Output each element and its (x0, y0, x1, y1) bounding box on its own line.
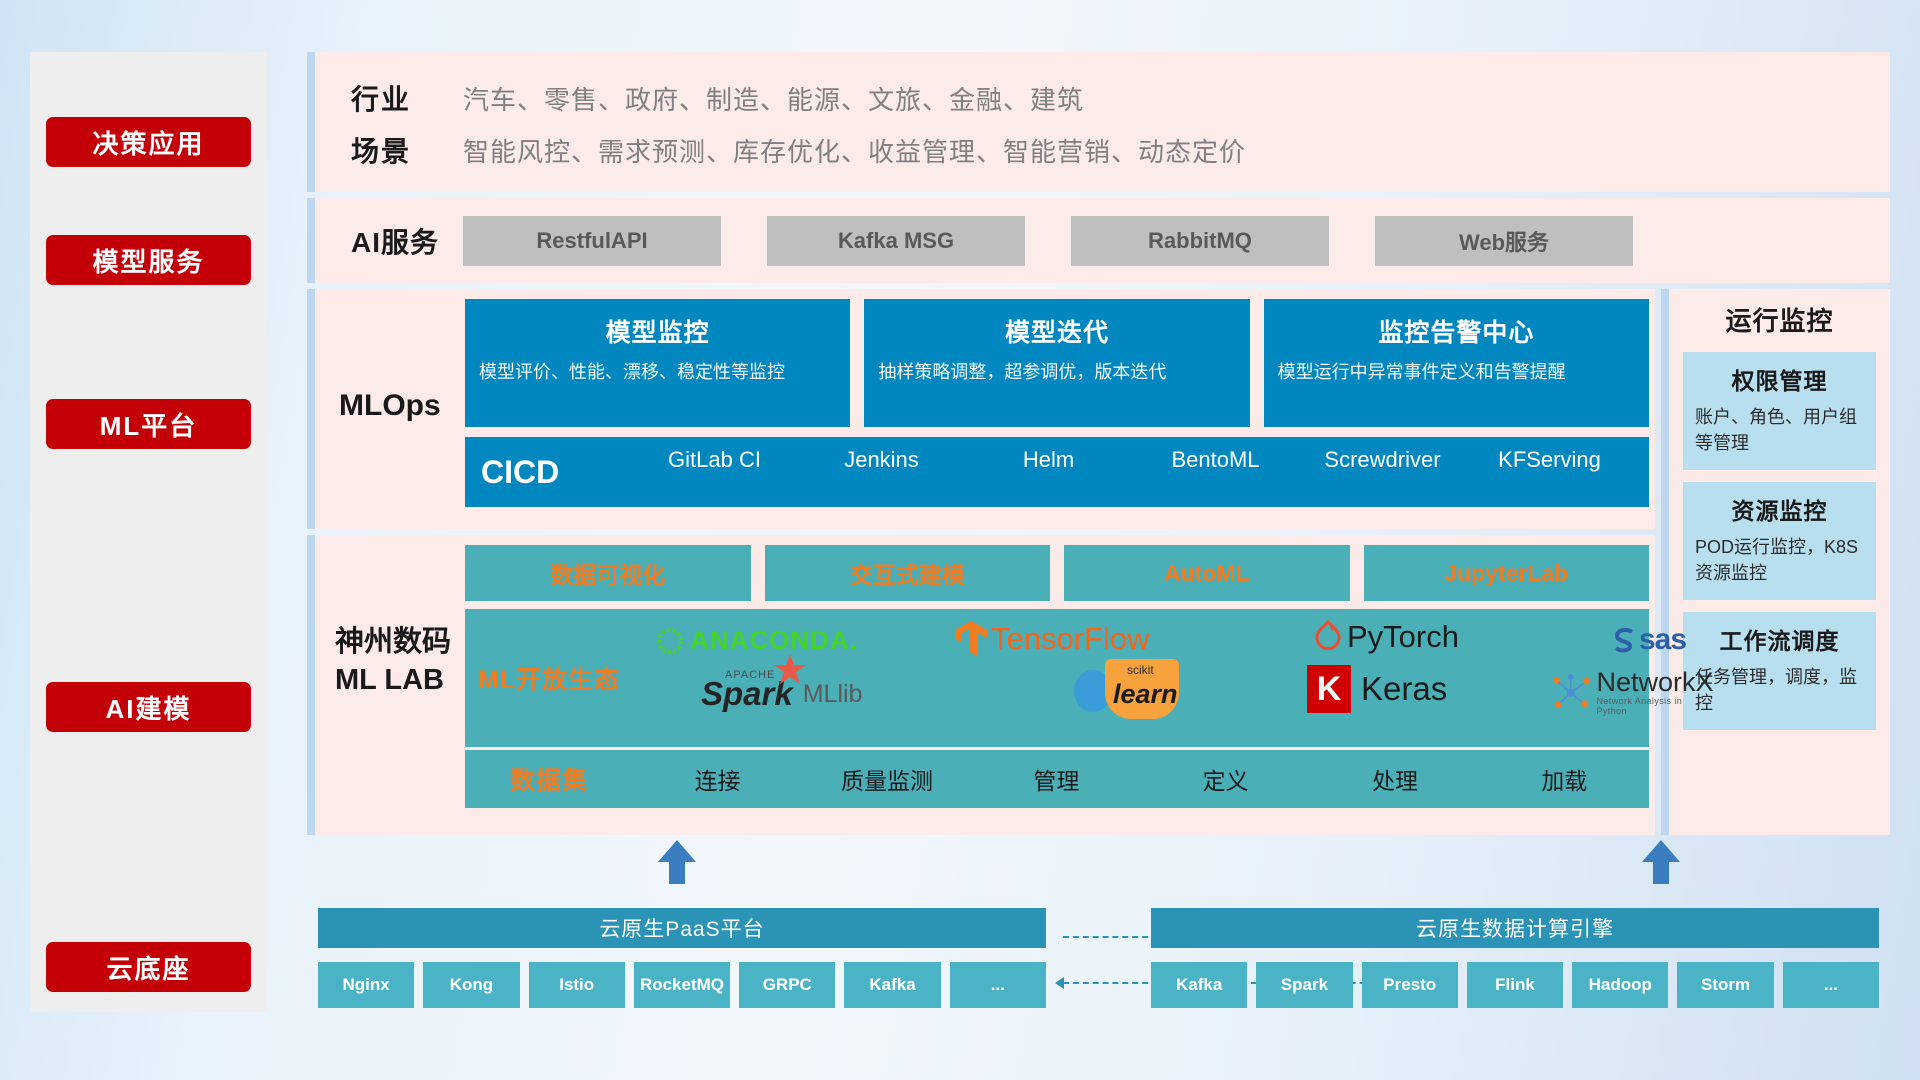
learn-label: learn (1113, 679, 1178, 710)
rail-item-ai-modeling[interactable]: AI建模 (46, 682, 251, 732)
card-title: 资源监控 (1695, 492, 1864, 526)
cloud-paas-title: 云原生PaaS平台 (318, 908, 1046, 948)
ai-service-chip[interactable]: Kafka MSG (767, 216, 1025, 266)
dataset-row: 数据集 连接 质量监测 管理 定义 处理 加载 (465, 750, 1649, 808)
cloud-chip-grpc[interactable]: GRPC (739, 962, 835, 1008)
scikit-top-label: scikit (1127, 663, 1154, 677)
ai-service-chip[interactable]: Web服务 (1375, 216, 1633, 266)
mlops-content: 模型监控 模型评价、性能、漂移、稳定性等监控 模型迭代 抽样策略调整，超参调优，… (465, 299, 1655, 507)
rail-item-label: AI建模 (105, 689, 191, 726)
ml-ecosystem-logos: ANACONDA. TensorFlow (633, 609, 1649, 747)
layer-rail: 决策应用 模型服务 ML平台 AI建模 云底座 (30, 52, 267, 1012)
ml-ecosystem-row: ML开放生态 ANACONDA. (465, 609, 1649, 747)
networkx-logo: NetworkX Network Analysis in Python (1551, 669, 1714, 716)
dataset-label: 数据集 (465, 761, 633, 797)
industry-key: 行业 (351, 78, 463, 118)
modeling-tool-row: 数据可视化 交互式建模 AutoML JupyterLab (465, 545, 1649, 601)
card-desc: 模型评价、性能、漂移、稳定性等监控 (479, 359, 836, 385)
cicd-item-kfserving[interactable]: KFServing (1466, 448, 1633, 496)
ai-services-band: AI服务 RestfulAPI Kafka MSG RabbitMQ Web服务 (307, 198, 1890, 283)
card-title: 权限管理 (1695, 362, 1864, 396)
sas-label: sas (1639, 623, 1686, 657)
dataset-item-define[interactable]: 定义 (1141, 762, 1310, 796)
rail-item-ml-platform[interactable]: ML平台 (46, 399, 251, 449)
card-desc: 账户、角色、用户组等管理 (1695, 404, 1864, 456)
mlops-card-model-iteration[interactable]: 模型迭代 抽样策略调整，超参调优，版本迭代 (864, 299, 1249, 427)
industry-value: 汽车、零售、政府、制造、能源、文旅、金融、建筑 (463, 80, 1084, 117)
monitor-card-resource[interactable]: 资源监控 POD运行监控，K8S资源监控 (1683, 482, 1876, 600)
industry-row: 行业 汽车、零售、政府、制造、能源、文旅、金融、建筑 (351, 72, 1890, 124)
cloud-chip-istio[interactable]: Istio (529, 962, 625, 1008)
architecture-diagram: 决策应用 模型服务 ML平台 AI建模 云底座 行业 汽车、零售、政府、制造、能… (0, 0, 1920, 1080)
rail-item-label: 云底座 (106, 949, 190, 986)
cloud-chip-more[interactable]: ... (950, 962, 1046, 1008)
ml-ecosystem-label: ML开放生态 (465, 660, 633, 696)
cloud-chip-presto[interactable]: Presto (1362, 962, 1458, 1008)
dashed-arrow-left-icon (1055, 977, 1064, 989)
pytorch-logo: PyTorch (1313, 619, 1459, 655)
networkx-mark (1551, 673, 1593, 713)
platform-column: MLOps 模型监控 模型评价、性能、漂移、稳定性等监控 模型迭代 抽样策略调整… (307, 289, 1655, 835)
ai-services-chip-row: RestfulAPI Kafka MSG RabbitMQ Web服务 (463, 216, 1890, 266)
monitor-column: 运行监控 权限管理 账户、角色、用户组等管理 资源监控 POD运行监控，K8S资… (1661, 289, 1890, 835)
dataset-item-quality-monitoring[interactable]: 质量监测 (802, 762, 971, 796)
cloud-chip-flink[interactable]: Flink (1467, 962, 1563, 1008)
keras-mark-letter: K (1317, 670, 1342, 709)
card-desc: 模型运行中异常事件定义和告警提醒 (1278, 359, 1635, 385)
cicd-item-gitlab-ci[interactable]: GitLab CI (631, 448, 798, 496)
dataset-item-manage[interactable]: 管理 (972, 762, 1141, 796)
monitor-card-permission[interactable]: 权限管理 账户、角色、用户组等管理 (1683, 352, 1876, 470)
tensorflow-mark (953, 619, 989, 659)
rail-item-model-service[interactable]: 模型服务 (46, 235, 251, 285)
cloud-chip-kafka[interactable]: Kafka (844, 962, 940, 1008)
keras-logo: K Keras (1307, 665, 1447, 713)
anaconda-label: ANACONDA. (690, 625, 858, 656)
networkx-sublabel: Network Analysis in Python (1597, 696, 1715, 716)
ml-lab-label-line1: 神州数码 (335, 623, 465, 661)
cloud-chip-storm[interactable]: Storm (1677, 962, 1773, 1008)
cloud-chip-more-engine[interactable]: ... (1783, 962, 1879, 1008)
cloud-engine-chip-row: Kafka Spark Presto Flink Hadoop Storm ..… (1151, 962, 1879, 1008)
cloud-chip-spark[interactable]: Spark (1256, 962, 1352, 1008)
rail-item-label: ML平台 (100, 406, 198, 443)
cloud-engine-title: 云原生数据计算引擎 (1151, 908, 1879, 948)
sas-mark (1609, 625, 1639, 655)
scenario-row: 场景 智能风控、需求预测、库存优化、收益管理、智能营销、动态定价 (351, 124, 1890, 176)
spark-mllib-logo: APACHE Spark MLlib (701, 675, 862, 713)
cloud-chip-kafka-engine[interactable]: Kafka (1151, 962, 1247, 1008)
pytorch-label: PyTorch (1347, 619, 1459, 655)
card-desc: POD运行监控，K8S资源监控 (1695, 534, 1864, 586)
card-title: 监控告警中心 (1278, 313, 1635, 349)
card-title: 模型监控 (479, 313, 836, 349)
tensorflow-label: TensorFlow (991, 621, 1150, 657)
rail-item-label: 模型服务 (92, 242, 204, 279)
modeling-content: 数据可视化 交互式建模 AutoML JupyterLab ML开放生态 (465, 545, 1655, 835)
cicd-title: CICD (481, 454, 631, 491)
cicd-item-bentoml[interactable]: BentoML (1132, 448, 1299, 496)
cicd-bar: CICD GitLab CI Jenkins Helm BentoML Scre… (465, 437, 1649, 507)
ai-service-chip[interactable]: RestfulAPI (463, 216, 721, 266)
scenario-value: 智能风控、需求预测、库存优化、收益管理、智能营销、动态定价 (463, 132, 1246, 169)
cicd-item-jenkins[interactable]: Jenkins (798, 448, 965, 496)
cloud-paas-chip-row: Nginx Kong Istio RocketMQ GRPC Kafka ... (318, 962, 1046, 1008)
card-title: 模型迭代 (878, 313, 1235, 349)
runtime-monitor-panel: 运行监控 权限管理 账户、角色、用户组等管理 资源监控 POD运行监控，K8S资… (1661, 289, 1890, 835)
tool-chip-automl[interactable]: AutoML (1064, 545, 1350, 601)
modeling-band: 神州数码 ML LAB 数据可视化 交互式建模 AutoML JupyterLa… (307, 535, 1655, 835)
mlops-label: MLOps (315, 299, 465, 423)
card-desc: 抽样策略调整，超参调优，版本迭代 (878, 359, 1235, 385)
cloud-paas-group: 云原生PaaS平台 Nginx Kong Istio RocketMQ GRPC… (318, 908, 1046, 1008)
rail-item-label: 决策应用 (92, 124, 204, 161)
keras-label: Keras (1361, 670, 1447, 708)
cloud-chip-nginx[interactable]: Nginx (318, 962, 414, 1008)
applications-band: 行业 汽车、零售、政府、制造、能源、文旅、金融、建筑 场景 智能风控、需求预测、… (307, 52, 1890, 192)
platform-and-monitor: MLOps 模型监控 模型评价、性能、漂移、稳定性等监控 模型迭代 抽样策略调整… (307, 289, 1890, 835)
networkx-label: NetworkX (1597, 669, 1715, 696)
anaconda-logo: ANACONDA. (655, 625, 858, 656)
mlops-band: MLOps 模型监控 模型评价、性能、漂移、稳定性等监控 模型迭代 抽样策略调整… (307, 289, 1655, 529)
main-stack: 行业 汽车、零售、政府、制造、能源、文旅、金融、建筑 场景 智能风控、需求预测、… (307, 52, 1890, 835)
tool-chip-data-visualization[interactable]: 数据可视化 (465, 545, 751, 601)
paas-arrow-up-icon (658, 840, 696, 862)
rail-item-decision-apps[interactable]: 决策应用 (46, 117, 251, 167)
dataset-item-process[interactable]: 处理 (1310, 762, 1479, 796)
mllib-label: MLlib (803, 680, 863, 709)
pytorch-mark (1313, 620, 1343, 654)
mlops-card-model-monitoring[interactable]: 模型监控 模型评价、性能、漂移、稳定性等监控 (465, 299, 850, 427)
tool-chip-interactive-modeling[interactable]: 交互式建模 (765, 545, 1051, 601)
cloud-chip-hadoop[interactable]: Hadoop (1572, 962, 1668, 1008)
cloud-engine-group: 云原生数据计算引擎 Kafka Spark Presto Flink Hadoo… (1433, 908, 1879, 1008)
runtime-monitor-title: 运行监控 (1683, 301, 1876, 338)
cicd-item-screwdriver[interactable]: Screwdriver (1299, 448, 1466, 496)
engine-arrow-up-icon (1642, 840, 1680, 862)
scikit-learn-logo: scikit learn (1071, 665, 1125, 713)
card-desc: 任务管理，调度，监控 (1695, 664, 1864, 716)
ai-service-chip[interactable]: RabbitMQ (1071, 216, 1329, 266)
tensorflow-logo: TensorFlow (953, 619, 1150, 659)
anaconda-mark (655, 626, 685, 656)
spark-star-mark (773, 653, 807, 687)
spark-apache-label: APACHE (725, 669, 775, 681)
card-title: 工作流调度 (1695, 622, 1864, 656)
sas-logo: sas (1609, 623, 1686, 657)
dataset-item-connect[interactable]: 连接 (633, 762, 802, 796)
rail-item-cloud-foundation[interactable]: 云底座 (46, 942, 251, 992)
ml-lab-label: 神州数码 ML LAB (315, 545, 465, 835)
mlops-card-row: 模型监控 模型评价、性能、漂移、稳定性等监控 模型迭代 抽样策略调整，超参调优，… (465, 299, 1649, 427)
scenario-key: 场景 (351, 130, 463, 170)
cicd-item-helm[interactable]: Helm (965, 448, 1132, 496)
ai-services-label: AI服务 (351, 221, 463, 261)
ml-lab-label-line2: ML LAB (335, 661, 465, 699)
tool-chip-jupyterlab[interactable]: JupyterLab (1364, 545, 1650, 601)
dataset-item-load[interactable]: 加载 (1480, 762, 1649, 796)
mlops-card-alert-center[interactable]: 监控告警中心 模型运行中异常事件定义和告警提醒 (1264, 299, 1649, 427)
keras-mark: K (1307, 665, 1351, 713)
cloud-chip-rocketmq[interactable]: RocketMQ (634, 962, 730, 1008)
cloud-foundation-section: 云原生PaaS平台 Nginx Kong Istio RocketMQ GRPC… (307, 880, 1890, 1025)
cloud-chip-kong[interactable]: Kong (423, 962, 519, 1008)
